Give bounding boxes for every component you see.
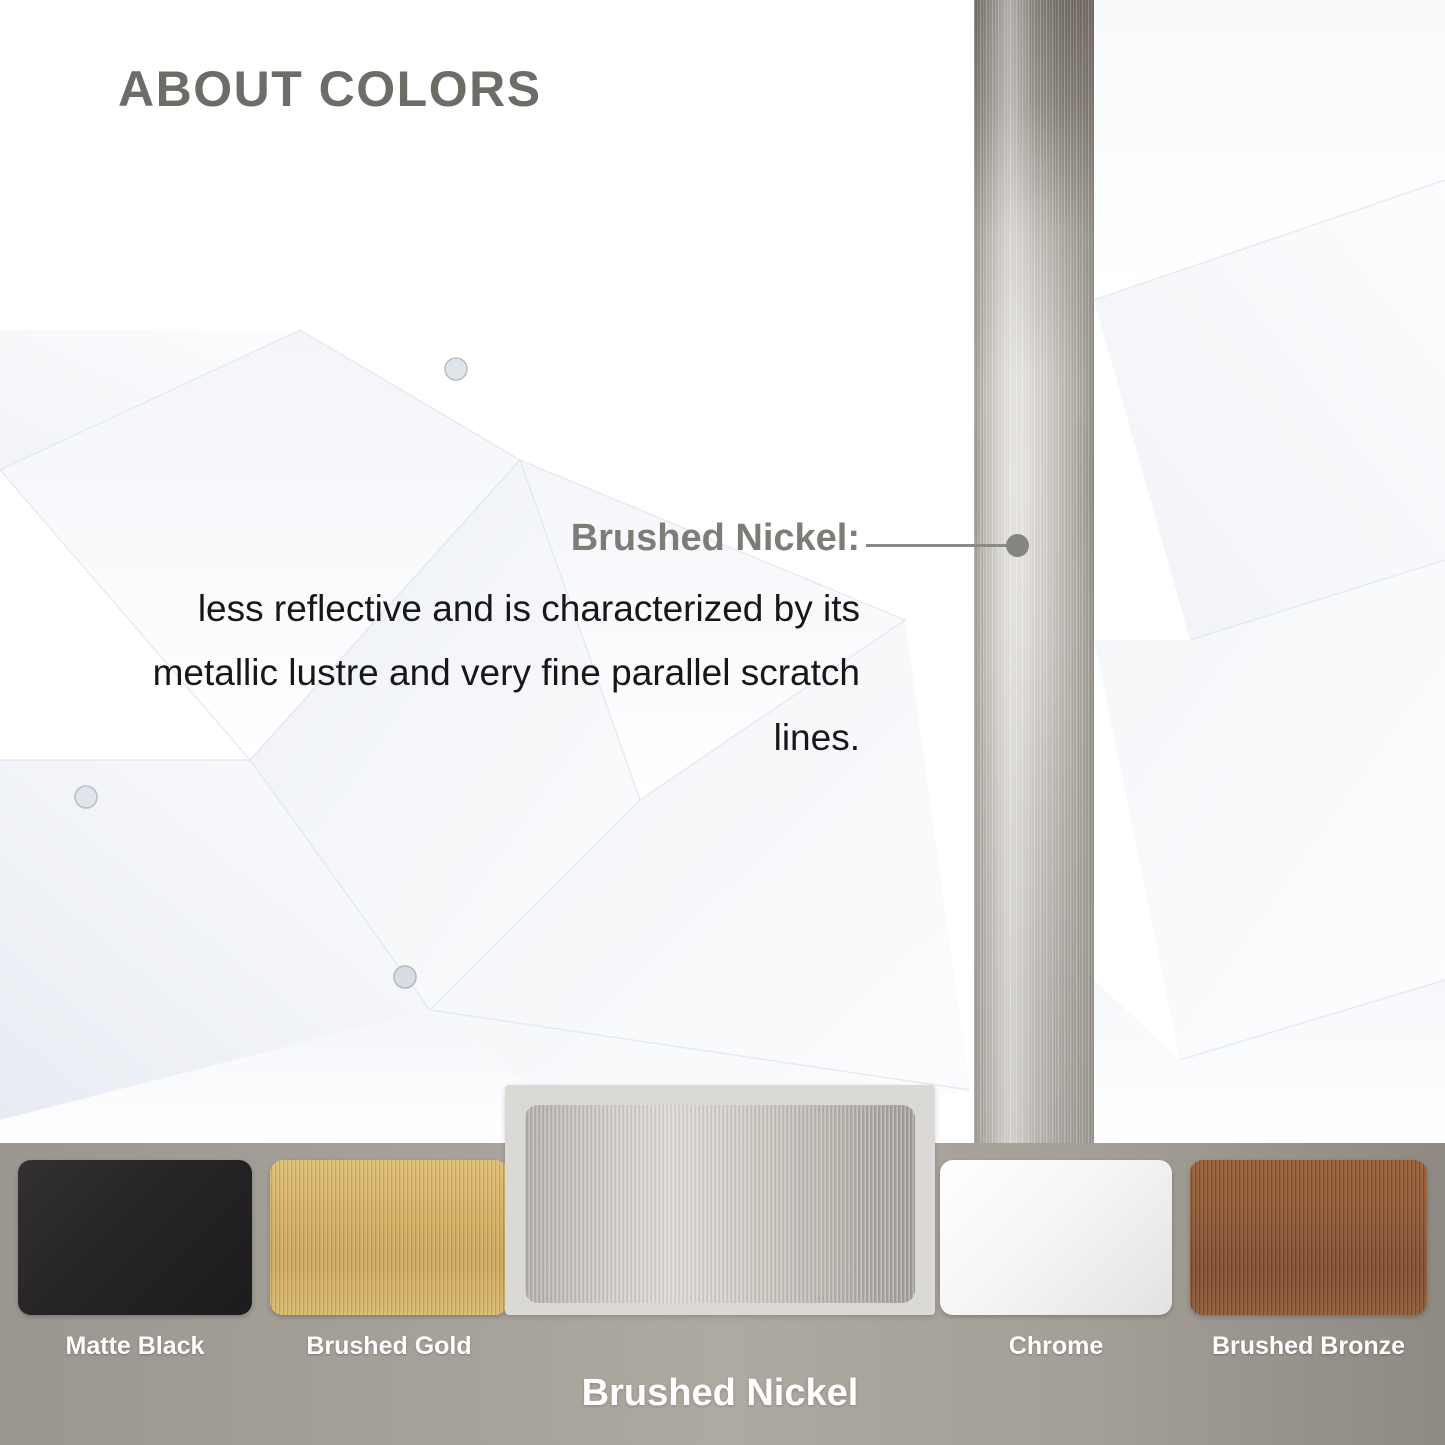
- callout-body: less reflective and is characterized by …: [100, 577, 860, 771]
- swatch-label-brushed-bronze: Brushed Bronze: [1190, 1332, 1427, 1361]
- callout-title: Brushed Nickel:: [100, 515, 860, 563]
- swatch-label-matte-black: Matte Black: [18, 1332, 252, 1361]
- page-title: ABOUT COLORS: [118, 60, 542, 118]
- callout-leader-line: [866, 544, 1016, 547]
- featured-swatch-brushed-nickel[interactable]: [525, 1105, 915, 1303]
- featured-swatch-frame[interactable]: [505, 1085, 935, 1315]
- swatch-brushed-gold[interactable]: [270, 1160, 508, 1315]
- nickel-sheen-highlight: [974, 0, 1094, 1150]
- swatch-label-chrome: Chrome: [940, 1332, 1172, 1361]
- infographic-canvas: ABOUT COLORS Brushed Nickel: less reflec…: [0, 0, 1445, 1445]
- callout-block: Brushed Nickel: less reflective and is c…: [100, 515, 860, 771]
- swatch-chrome[interactable]: [940, 1160, 1172, 1315]
- swatch-matte-black[interactable]: [18, 1160, 252, 1315]
- brushed-nickel-bar: [974, 0, 1094, 1150]
- callout-leader-dot: [1006, 534, 1029, 557]
- swatch-brushed-bronze[interactable]: [1190, 1160, 1427, 1315]
- swatch-label-brushed-gold: Brushed Gold: [270, 1332, 508, 1361]
- featured-swatch-label: Brushed Nickel: [505, 1372, 935, 1415]
